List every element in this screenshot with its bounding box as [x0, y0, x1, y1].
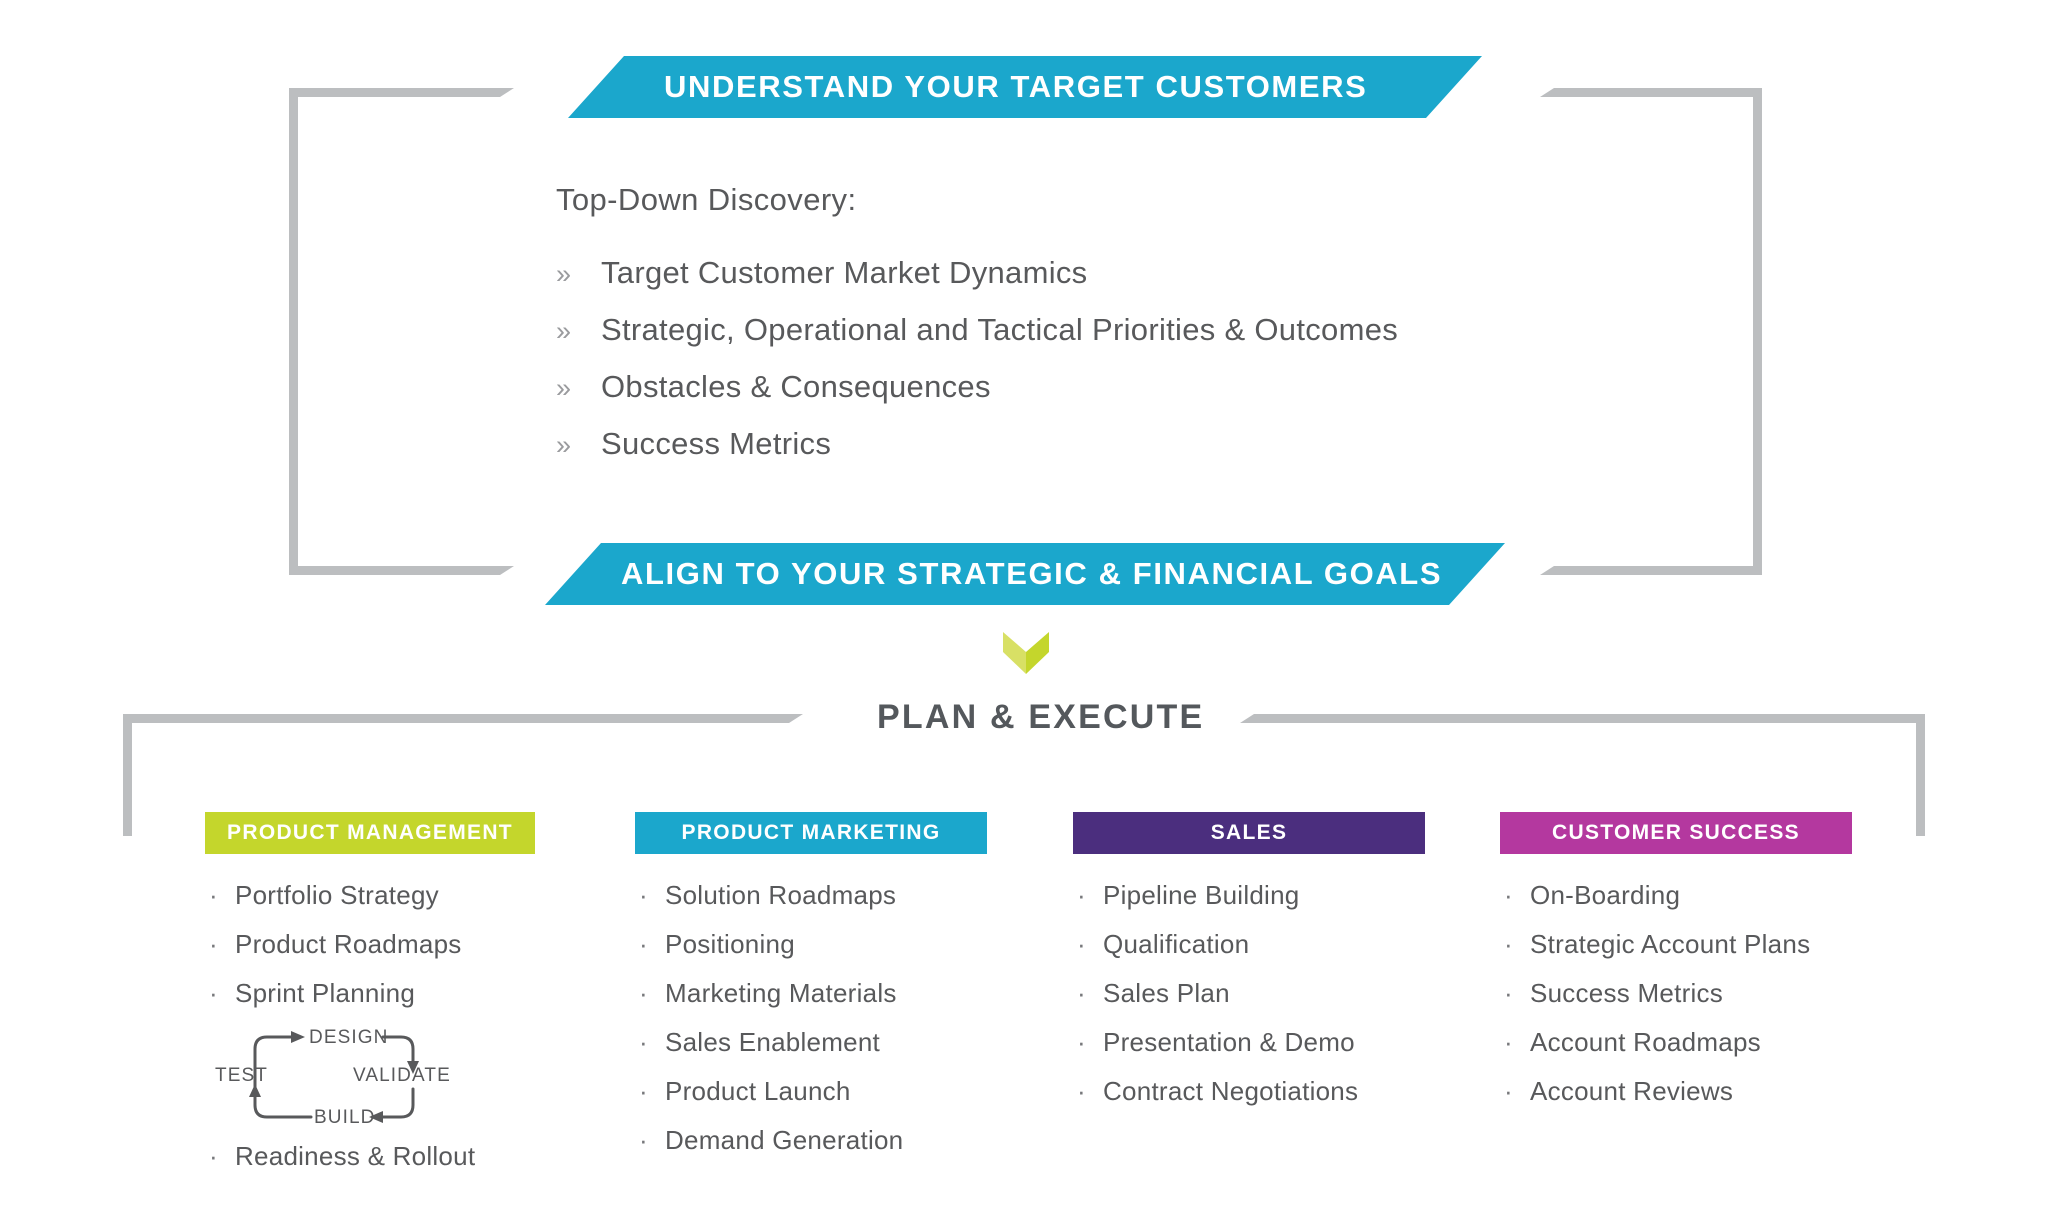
bottom-left-bracket-horizontal [289, 566, 514, 575]
list-item-label: Pipeline Building [1103, 880, 1300, 911]
list-item-label: Solution Roadmaps [665, 880, 896, 911]
top-left-bracket-horizontal [289, 88, 514, 97]
bullet-dot-icon: · [205, 1141, 235, 1172]
column-header-product-marketing: PRODUCT MARKETING [635, 812, 987, 854]
list-item-label: Qualification [1103, 929, 1249, 960]
diagram-canvas: UNDERSTAND YOUR TARGET CUSTOMERS Top-Dow… [0, 0, 2048, 1212]
list-item: » Obstacles & Consequences [556, 369, 1398, 405]
list-item-label: Sales Plan [1103, 978, 1230, 1009]
column-header-label: CUSTOMER SUCCESS [1552, 821, 1800, 845]
list-item: · On-Boarding [1500, 880, 1860, 911]
cycle-label-validate: VALIDATE [353, 1065, 451, 1087]
list-item: · Positioning [635, 929, 980, 960]
list-item-label: Strategic, Operational and Tactical Prio… [601, 312, 1398, 348]
bullet-dot-icon: · [1073, 1027, 1103, 1058]
list-item: · Marketing Materials [635, 978, 980, 1009]
list-item: · Contract Negotiations [1073, 1076, 1418, 1107]
bottom-right-bracket-horizontal [1540, 566, 1762, 575]
list-item: · Sprint Planning [205, 978, 550, 1009]
column-product-management: PRODUCT MANAGEMENT · Portfolio Strategy … [205, 812, 550, 1190]
banner-understand-target-customers: UNDERSTAND YOUR TARGET CUSTOMERS [568, 56, 1482, 118]
list-item-label: Presentation & Demo [1103, 1027, 1355, 1058]
list-item: · Sales Plan [1073, 978, 1418, 1009]
bullet-marker-icon: » [556, 373, 601, 404]
bullet-marker-icon: » [556, 259, 601, 290]
list-item-label: Demand Generation [665, 1125, 903, 1156]
cycle-label-test: TEST [215, 1065, 268, 1087]
list-item-label: Account Roadmaps [1530, 1027, 1761, 1058]
column-header-label: SALES [1211, 821, 1288, 845]
page-title: PLAN & EXECUTE [877, 698, 1204, 737]
plan-left-bracket-horizontal [123, 714, 803, 723]
list-item: · Solution Roadmaps [635, 880, 980, 911]
list-item-label: Sprint Planning [235, 978, 415, 1009]
list-item: · Product Launch [635, 1076, 980, 1107]
cycle-label-design: DESIGN [309, 1027, 388, 1049]
column-item-list: · Portfolio Strategy · Product Roadmaps … [205, 880, 550, 1172]
list-item-label: Success Metrics [1530, 978, 1723, 1009]
list-item: · Product Roadmaps [205, 929, 550, 960]
bullet-dot-icon: · [635, 1027, 665, 1058]
list-item-label: Account Reviews [1530, 1076, 1733, 1107]
list-item: » Target Customer Market Dynamics [556, 255, 1398, 291]
list-item: · Account Roadmaps [1500, 1027, 1860, 1058]
list-item: · Readiness & Rollout [205, 1141, 550, 1172]
list-item: · Account Reviews [1500, 1076, 1860, 1107]
column-item-list: · On-Boarding · Strategic Account Plans … [1500, 880, 1860, 1107]
discovery-bullet-list: » Target Customer Market Dynamics » Stra… [556, 255, 1398, 483]
top-right-bracket-horizontal [1540, 88, 1762, 97]
top-right-bracket-vertical [1753, 88, 1762, 575]
plan-right-bracket-vertical [1916, 714, 1925, 836]
list-item-label: Target Customer Market Dynamics [601, 255, 1088, 291]
column-header-sales: SALES [1073, 812, 1425, 854]
list-item-label: Product Launch [665, 1076, 851, 1107]
column-customer-success: CUSTOMER SUCCESS · On-Boarding · Strateg… [1500, 812, 1860, 1125]
bullet-dot-icon: · [205, 929, 235, 960]
banner-bottom-label: ALIGN TO YOUR STRATEGIC & FINANCIAL GOAL… [621, 556, 1442, 592]
list-item-label: Sales Enablement [665, 1027, 880, 1058]
bullet-marker-icon: » [556, 430, 601, 461]
top-left-bracket-vertical [289, 88, 298, 575]
list-item-label: Readiness & Rollout [235, 1141, 475, 1172]
list-item-label: Success Metrics [601, 426, 831, 462]
column-item-list: · Pipeline Building · Qualification · Sa… [1073, 880, 1418, 1107]
bullet-dot-icon: · [635, 978, 665, 1009]
column-sales: SALES · Pipeline Building · Qualificatio… [1073, 812, 1418, 1125]
list-item: · Strategic Account Plans [1500, 929, 1860, 960]
column-header-label: PRODUCT MARKETING [682, 821, 941, 845]
list-item: » Strategic, Operational and Tactical Pr… [556, 312, 1398, 348]
plan-right-bracket-horizontal [1240, 714, 1925, 723]
column-header-product-management: PRODUCT MANAGEMENT [205, 812, 535, 854]
bullet-dot-icon: · [1500, 978, 1530, 1009]
list-item: · Success Metrics [1500, 978, 1860, 1009]
cycle-label-build: BUILD [314, 1107, 375, 1129]
list-item: · Qualification [1073, 929, 1418, 960]
bullet-dot-icon: · [635, 880, 665, 911]
list-item-label: Strategic Account Plans [1530, 929, 1810, 960]
bullet-dot-icon: · [1500, 1076, 1530, 1107]
banner-top-label: UNDERSTAND YOUR TARGET CUSTOMERS [664, 69, 1367, 105]
bullet-dot-icon: · [1500, 1027, 1530, 1058]
list-item-label: Contract Negotiations [1103, 1076, 1358, 1107]
list-item-label: Obstacles & Consequences [601, 369, 991, 405]
column-product-marketing: PRODUCT MARKETING · Solution Roadmaps · … [635, 812, 980, 1174]
list-item-label: On-Boarding [1530, 880, 1680, 911]
column-item-list: · Solution Roadmaps · Positioning · Mark… [635, 880, 980, 1156]
bullet-dot-icon: · [635, 929, 665, 960]
chevron-down-icon [1003, 630, 1049, 676]
bullet-dot-icon: · [205, 978, 235, 1009]
top-down-discovery-label: Top-Down Discovery: [556, 182, 856, 218]
list-item-label: Positioning [665, 929, 795, 960]
list-item: » Success Metrics [556, 426, 1398, 462]
list-item-label: Portfolio Strategy [235, 880, 439, 911]
list-item: · Portfolio Strategy [205, 880, 550, 911]
banner-align-strategic-financial-goals: ALIGN TO YOUR STRATEGIC & FINANCIAL GOAL… [545, 543, 1505, 605]
list-item-label: Product Roadmaps [235, 929, 462, 960]
bullet-dot-icon: · [1500, 880, 1530, 911]
bullet-dot-icon: · [1500, 929, 1530, 960]
list-item: · Demand Generation [635, 1125, 980, 1156]
list-item: · Presentation & Demo [1073, 1027, 1418, 1058]
bullet-dot-icon: · [1073, 1076, 1103, 1107]
bullet-dot-icon: · [1073, 978, 1103, 1009]
bullet-dot-icon: · [635, 1125, 665, 1156]
plan-left-bracket-vertical [123, 714, 132, 836]
column-header-label: PRODUCT MANAGEMENT [227, 821, 513, 845]
list-item: · Sales Enablement [635, 1027, 980, 1058]
list-item-label: Marketing Materials [665, 978, 897, 1009]
bullet-dot-icon: · [1073, 880, 1103, 911]
column-header-customer-success: CUSTOMER SUCCESS [1500, 812, 1852, 854]
bullet-dot-icon: · [635, 1076, 665, 1107]
bullet-dot-icon: · [1073, 929, 1103, 960]
bullet-marker-icon: » [556, 316, 601, 347]
bullet-dot-icon: · [205, 880, 235, 911]
list-item: · Pipeline Building [1073, 880, 1418, 911]
sprint-cycle-diagram: DESIGN VALIDATE BUILD TEST [233, 1027, 463, 1127]
